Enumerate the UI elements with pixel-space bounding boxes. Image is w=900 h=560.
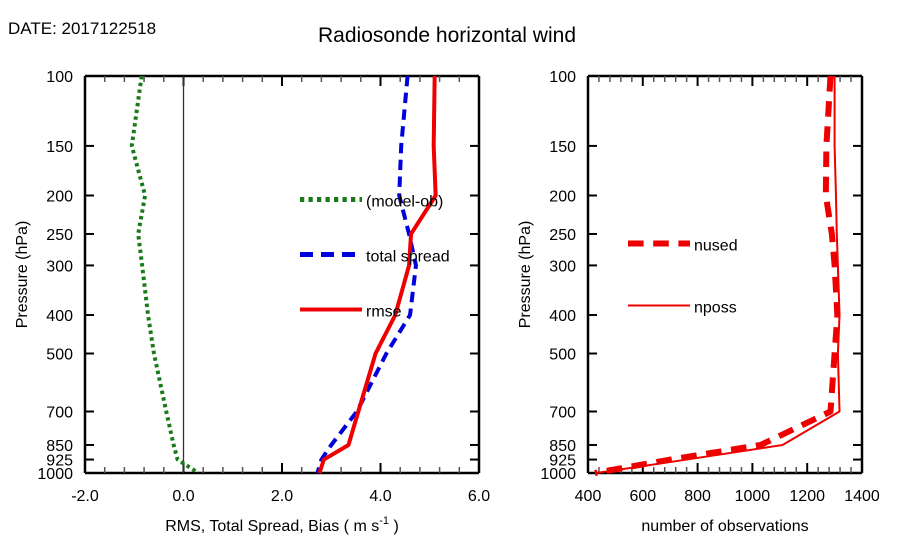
x-tick-label: 600 [629,488,656,505]
figure-background [0,0,900,560]
y-tick-label: 300 [549,258,576,275]
y-tick-label: 500 [549,346,576,363]
legend-label: total spread [366,249,450,266]
y-tick-label: 200 [549,189,576,206]
y-tick-label: 1000 [37,466,73,483]
x-tick-label: 6.0 [468,488,490,505]
y-tick-label: 700 [46,405,73,422]
legend-label: nposs [694,300,737,317]
x-tick-label: 4.0 [369,488,391,505]
x-axis-title: RMS, Total Spread, Bias ( m s-1 ) [165,515,399,535]
x-tick-label: 1200 [789,488,825,505]
figure-title: Radiosonde horizontal wind [318,24,576,47]
y-axis-title: Pressure (hPa) [517,221,534,329]
y-tick-label: 500 [46,346,73,363]
y-tick-label: 400 [549,308,576,325]
x-tick-label: 800 [684,488,711,505]
y-tick-label: 400 [46,308,73,325]
y-tick-label: 250 [46,227,73,244]
x-tick-label: 1000 [735,488,771,505]
y-tick-label: 250 [549,227,576,244]
y-tick-label: 700 [549,405,576,422]
y-tick-label: 150 [46,139,73,156]
y-tick-label: 200 [46,189,73,206]
legend-label: rmse [366,304,402,321]
x-tick-label: 1400 [844,488,880,505]
y-tick-label: 300 [46,258,73,275]
x-tick-label: -2.0 [71,488,99,505]
date-label: DATE: 2017122518 [8,19,156,38]
x-tick-label: 2.0 [271,488,293,505]
x-axis-title: number of observations [641,518,808,535]
y-tick-label: 1000 [540,466,576,483]
x-tick-label: 400 [575,488,602,505]
x-tick-label: 0.0 [172,488,194,505]
radiosonde-figure: DATE: 2017122518 Radiosonde horizontal w… [0,0,900,560]
legend-label: nused [694,238,738,255]
y-tick-label: 150 [549,139,576,156]
legend-label: (model-ob) [366,194,443,211]
y-tick-label: 100 [46,69,73,86]
y-tick-label: 100 [549,69,576,86]
y-axis-title: Pressure (hPa) [14,221,31,329]
